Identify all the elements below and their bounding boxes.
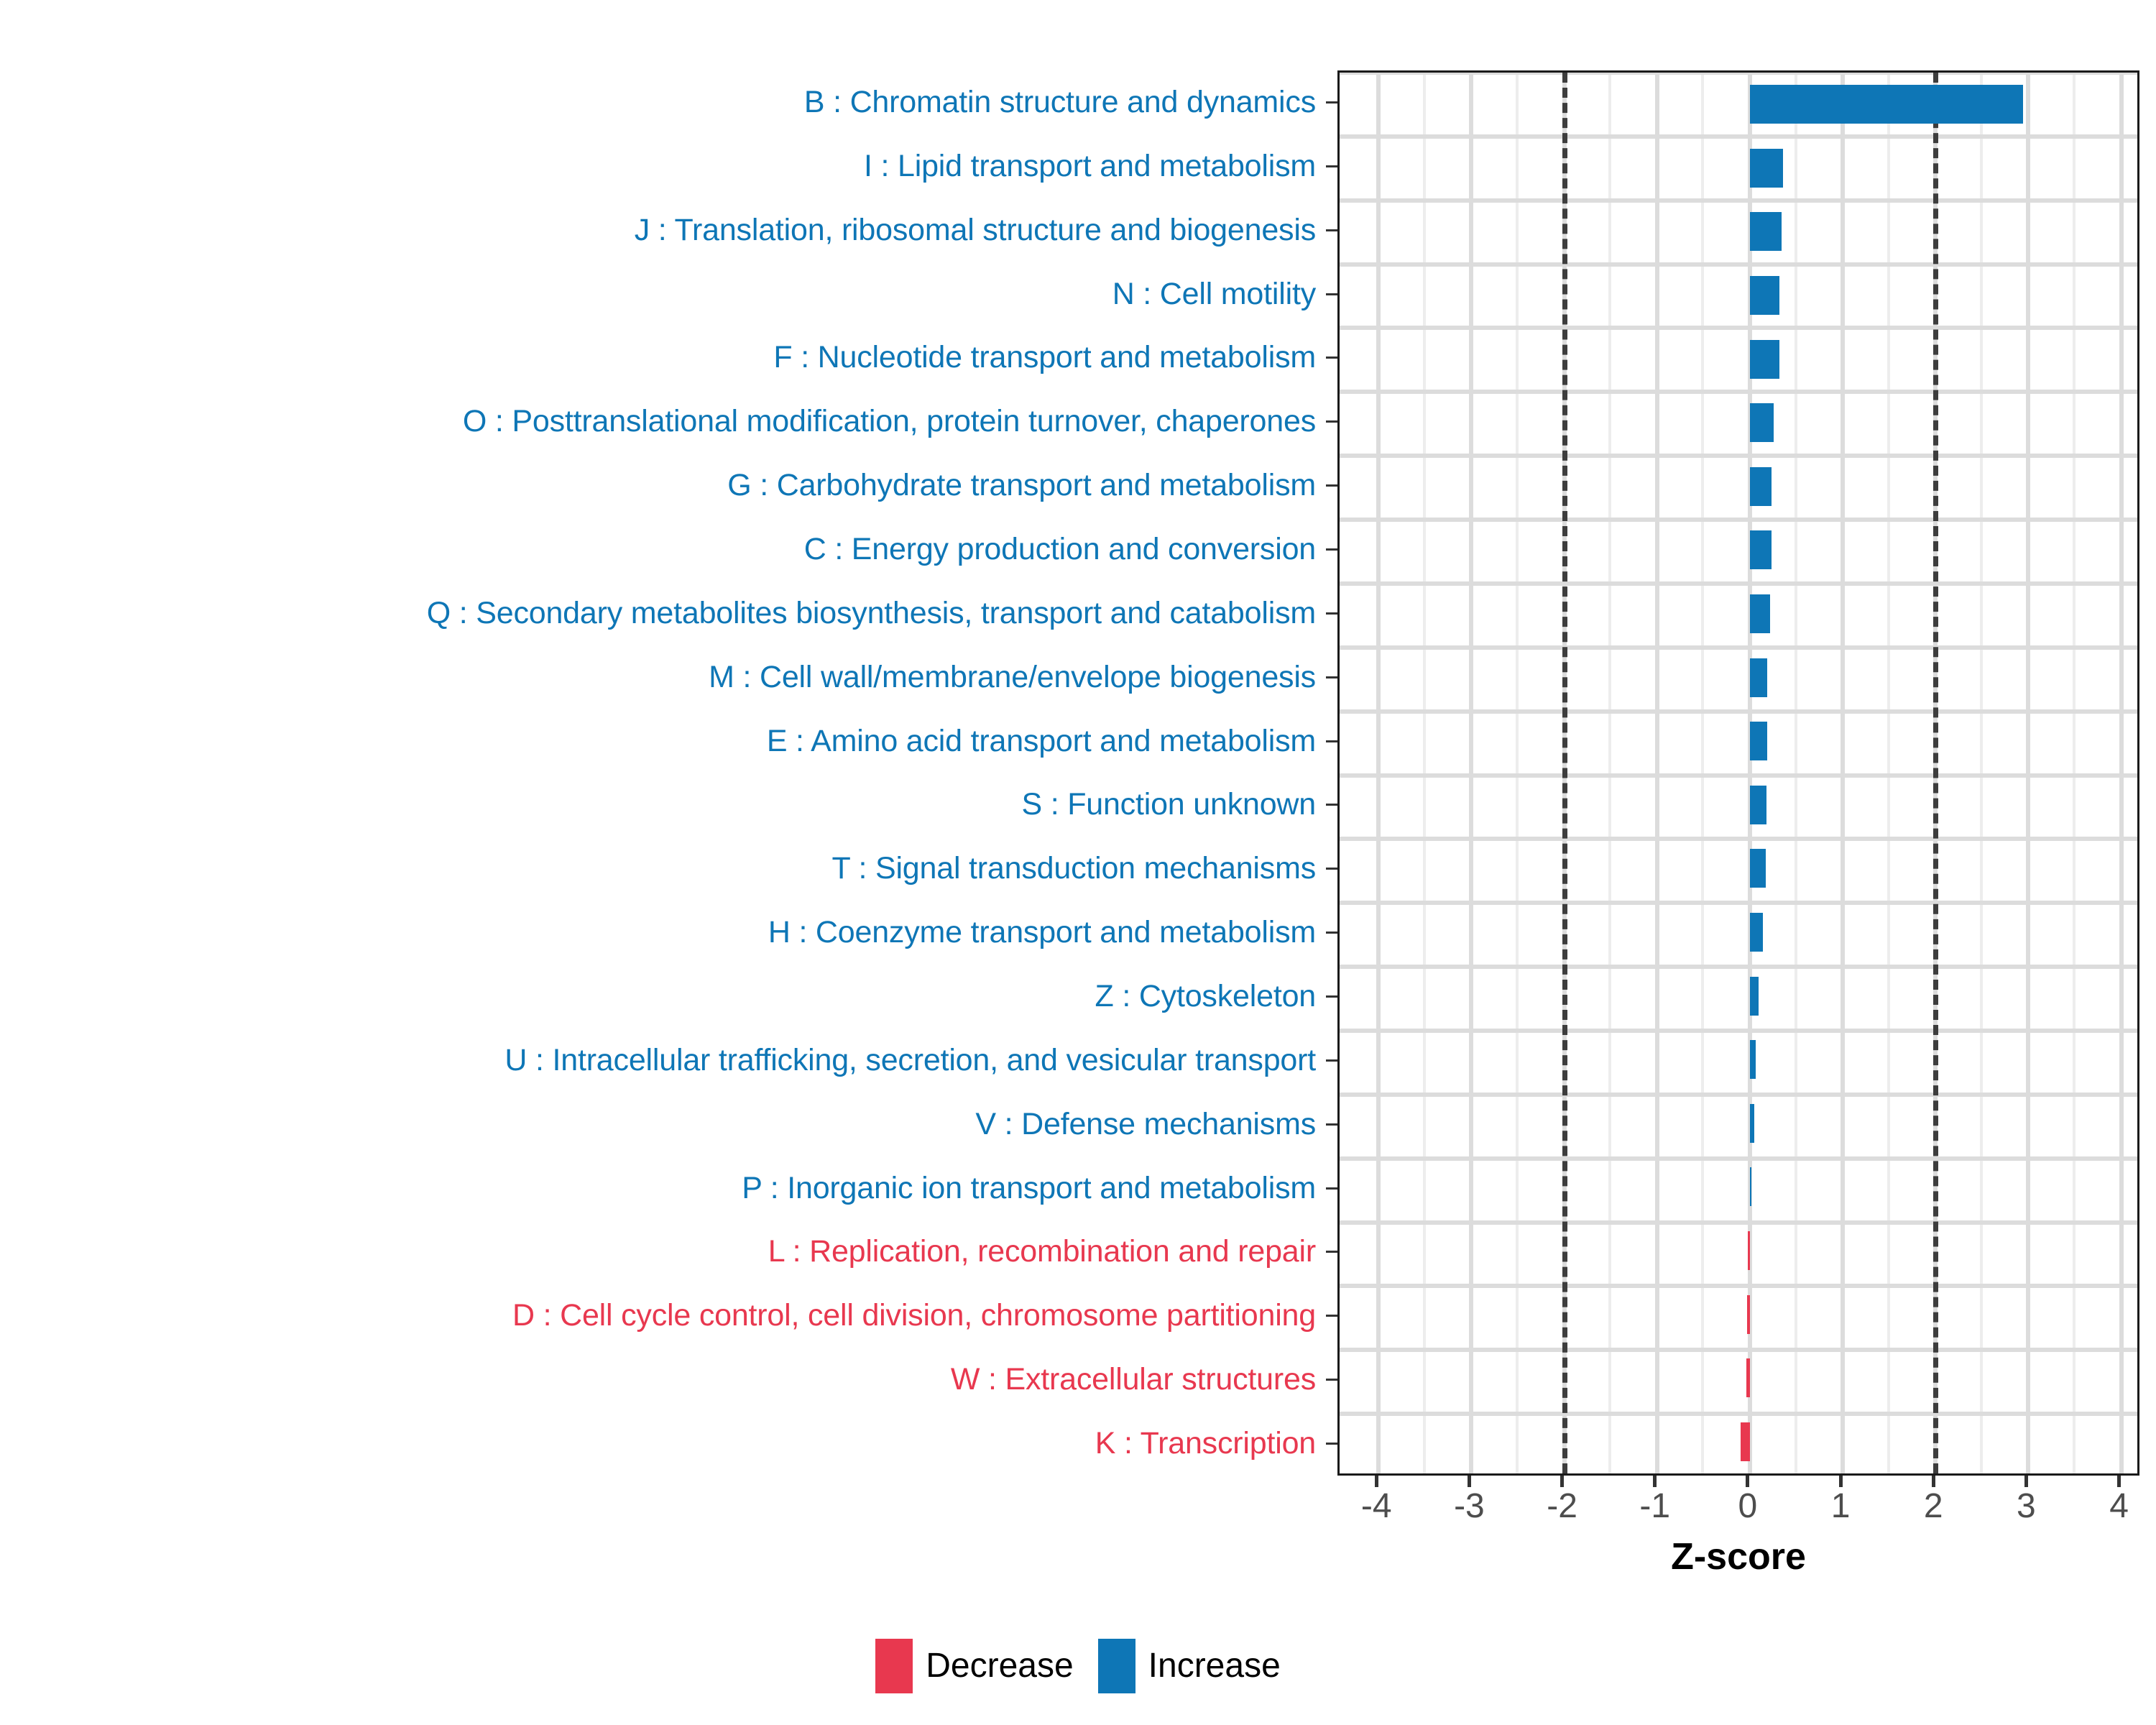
y-axis-tick-mark	[1326, 804, 1337, 806]
bar[interactable]	[1750, 1104, 1754, 1143]
y-axis-label-row: Q : Secondary metabolites biosynthesis, …	[0, 581, 1326, 645]
y-axis-label-row: V : Defense mechanisms	[0, 1092, 1326, 1156]
bar-row	[1340, 1219, 2137, 1283]
y-axis-tick-row	[1326, 773, 1337, 837]
y-axis-label-row: G : Carbohydrate transport and metabolis…	[0, 454, 1326, 517]
y-axis-tick-mark	[1326, 1443, 1337, 1445]
y-axis-tick-row	[1326, 709, 1337, 773]
bar[interactable]	[1750, 1040, 1756, 1079]
y-axis-label-row: U : Intracellular trafficking, secretion…	[0, 1029, 1326, 1092]
bar[interactable]	[1750, 594, 1770, 633]
y-axis-label-row: K : Transcription	[0, 1412, 1326, 1476]
y-axis-label-row: T : Signal transduction mechanisms	[0, 837, 1326, 901]
y-axis-category-label: T : Signal transduction mechanisms	[831, 853, 1316, 884]
x-axis-tick-mark	[2117, 1476, 2121, 1487]
legend-entry[interactable]: Increase	[1098, 1639, 1281, 1693]
y-axis-tick-mark	[1326, 1123, 1337, 1126]
x-axis-tick-mark	[1932, 1476, 1935, 1487]
x-axis-tick-mark	[1375, 1476, 1378, 1487]
y-axis-tick-row	[1326, 645, 1337, 709]
y-axis-tick-row	[1326, 901, 1337, 965]
y-axis-tick-mark	[1326, 1187, 1337, 1190]
bar[interactable]	[1750, 403, 1774, 442]
y-axis-category-label: Z : Cytoskeleton	[1095, 981, 1316, 1012]
y-axis-tick-mark	[1326, 1315, 1337, 1317]
x-axis-tick-label: 4	[2109, 1489, 2129, 1524]
y-axis-tick-row	[1326, 262, 1337, 326]
bar-row	[1340, 709, 2137, 773]
y-axis-tick-mark	[1326, 548, 1337, 551]
bar-series	[1340, 73, 2137, 1473]
y-axis-tick-row	[1326, 517, 1337, 581]
y-axis-category-label: E : Amino acid transport and metabolism	[767, 726, 1316, 757]
y-axis-category-labels: B : Chromatin structure and dynamicsI : …	[0, 70, 1326, 1476]
y-axis-category-label: F : Nucleotide transport and metabolism	[773, 342, 1316, 373]
x-axis-tick-label: -4	[1361, 1489, 1392, 1524]
y-axis-label-row: F : Nucleotide transport and metabolism	[0, 326, 1326, 390]
y-axis-tick-marks	[1326, 70, 1337, 1476]
bar[interactable]	[1750, 530, 1772, 569]
bar-row	[1340, 137, 2137, 201]
bar-row	[1340, 645, 2137, 709]
x-axis-tick-label: 2	[1924, 1489, 1943, 1524]
x-axis-tick-labels: -4-3-2-101234	[1337, 1489, 2139, 1531]
y-axis-category-label: C : Energy production and conversion	[804, 534, 1316, 565]
bar-row	[1340, 837, 2137, 901]
bar-row	[1340, 518, 2137, 582]
bar[interactable]	[1750, 149, 1784, 188]
y-axis-tick-row	[1326, 326, 1337, 390]
y-axis-category-label: W : Extracellular structures	[951, 1364, 1316, 1395]
bar-row	[1340, 1155, 2137, 1219]
bar[interactable]	[1750, 276, 1779, 315]
y-axis-category-label: P : Inorganic ion transport and metaboli…	[742, 1173, 1316, 1204]
y-axis-label-row: H : Coenzyme transport and metabolism	[0, 901, 1326, 965]
bar-row	[1340, 1409, 2137, 1473]
y-axis-tick-mark	[1326, 1059, 1337, 1062]
y-axis-tick-row	[1326, 965, 1337, 1029]
bar[interactable]	[1741, 1422, 1750, 1461]
y-axis-tick-row	[1326, 837, 1337, 901]
y-axis-category-label: H : Coenzyme transport and metabolism	[768, 917, 1316, 948]
y-axis-tick-row	[1326, 1284, 1337, 1348]
y-axis-category-label: L : Replication, recombination and repai…	[768, 1236, 1316, 1267]
y-axis-tick-mark	[1326, 101, 1337, 103]
bar-row	[1340, 200, 2137, 264]
y-axis-category-label: U : Intracellular trafficking, secretion…	[505, 1045, 1316, 1076]
y-axis-category-label: I : Lipid transport and metabolism	[864, 151, 1316, 182]
y-axis-category-label: O : Posttranslational modification, prot…	[463, 406, 1316, 437]
y-axis-tick-row	[1326, 581, 1337, 645]
y-axis-tick-mark	[1326, 740, 1337, 742]
legend-swatch	[1098, 1639, 1135, 1693]
y-axis-tick-row	[1326, 1348, 1337, 1412]
y-axis-tick-mark	[1326, 484, 1337, 487]
x-axis-tick-mark	[1560, 1476, 1564, 1487]
y-axis-tick-row	[1326, 1220, 1337, 1284]
bar[interactable]	[1750, 849, 1766, 888]
bar[interactable]	[1750, 786, 1766, 824]
y-axis-category-label: Q : Secondary metabolites biosynthesis, …	[427, 598, 1316, 629]
x-axis-tick-mark	[2024, 1476, 2028, 1487]
y-axis-tick-mark	[1326, 1379, 1337, 1381]
bar-row	[1340, 964, 2137, 1028]
chart-legend: DecreaseIncrease	[0, 1639, 2156, 1693]
y-axis-tick-mark	[1326, 293, 1337, 295]
y-axis-label-row: P : Inorganic ion transport and metaboli…	[0, 1156, 1326, 1220]
x-axis-tick-label: -1	[1639, 1489, 1670, 1524]
bar-row	[1340, 264, 2137, 328]
y-axis-tick-row	[1326, 1029, 1337, 1092]
x-axis-tick-mark	[1468, 1476, 1471, 1487]
y-axis-label-row: M : Cell wall/membrane/envelope biogenes…	[0, 645, 1326, 709]
bar[interactable]	[1750, 722, 1767, 760]
y-axis-tick-mark	[1326, 612, 1337, 615]
bar[interactable]	[1750, 212, 1782, 251]
x-axis-tick-mark	[1746, 1476, 1749, 1487]
bar[interactable]	[1750, 913, 1763, 952]
x-axis-tick-label: 3	[2017, 1489, 2036, 1524]
bar-row	[1340, 773, 2137, 837]
y-axis-label-row: C : Energy production and conversion	[0, 517, 1326, 581]
y-axis-tick-row	[1326, 70, 1337, 134]
y-axis-tick-row	[1326, 454, 1337, 517]
y-axis-label-row: J : Translation, ribosomal structure and…	[0, 198, 1326, 262]
y-axis-tick-mark	[1326, 356, 1337, 359]
y-axis-tick-mark	[1326, 676, 1337, 678]
bar[interactable]	[1747, 1295, 1750, 1334]
y-axis-tick-row	[1326, 1156, 1337, 1220]
y-axis-label-row: W : Extracellular structures	[0, 1348, 1326, 1412]
bar-row	[1340, 1092, 2137, 1156]
y-axis-label-row: B : Chromatin structure and dynamics	[0, 70, 1326, 134]
y-axis-label-row: I : Lipid transport and metabolism	[0, 134, 1326, 198]
x-axis-tick-label: -3	[1454, 1489, 1485, 1524]
y-axis-label-row: S : Function unknown	[0, 773, 1326, 837]
y-axis-tick-row	[1326, 1092, 1337, 1156]
bar-row	[1340, 1028, 2137, 1092]
bar-row	[1340, 901, 2137, 965]
bar[interactable]	[1750, 977, 1759, 1016]
y-axis-tick-row	[1326, 1412, 1337, 1476]
x-axis-tick-label: 1	[1831, 1489, 1851, 1524]
y-axis-tick-mark	[1326, 165, 1337, 167]
y-axis-tick-mark	[1326, 868, 1337, 870]
y-axis-tick-row	[1326, 134, 1337, 198]
y-axis-category-label: S : Function unknown	[1021, 789, 1316, 820]
x-axis-tick-mark	[1839, 1476, 1843, 1487]
bar[interactable]	[1746, 1358, 1750, 1397]
x-axis-title: Z-score	[1337, 1538, 2139, 1575]
bar-row	[1340, 327, 2137, 391]
bar-row	[1340, 1282, 2137, 1346]
chart-figure: B : Chromatin structure and dynamicsI : …	[0, 0, 2156, 1725]
bar-row	[1340, 1346, 2137, 1410]
y-axis-category-label: G : Carbohydrate transport and metabolis…	[727, 470, 1316, 501]
legend-swatch	[875, 1639, 913, 1693]
bar-row	[1340, 391, 2137, 455]
x-axis-tick-marks	[1337, 1476, 2139, 1487]
y-axis-category-label: J : Translation, ribosomal structure and…	[635, 215, 1316, 246]
x-axis-tick-label: -2	[1547, 1489, 1577, 1524]
x-axis-tick-mark	[1653, 1476, 1657, 1487]
y-axis-category-label: N : Cell motility	[1112, 279, 1316, 310]
legend-entry[interactable]: Decrease	[875, 1639, 1073, 1693]
bar-row	[1340, 73, 2137, 137]
y-axis-category-label: M : Cell wall/membrane/envelope biogenes…	[709, 662, 1316, 693]
y-axis-category-label: K : Transcription	[1095, 1428, 1316, 1459]
y-axis-tick-row	[1326, 390, 1337, 454]
y-axis-label-row: D : Cell cycle control, cell division, c…	[0, 1284, 1326, 1348]
y-axis-category-label: D : Cell cycle control, cell division, c…	[512, 1300, 1316, 1331]
y-axis-label-row: Z : Cytoskeleton	[0, 965, 1326, 1029]
y-axis-tick-mark	[1326, 931, 1337, 934]
bar-row	[1340, 582, 2137, 646]
bar[interactable]	[1750, 85, 2023, 124]
bar[interactable]	[1748, 1231, 1750, 1270]
legend-label: Decrease	[926, 1649, 1073, 1683]
y-axis-tick-mark	[1326, 995, 1337, 998]
plot-panel	[1337, 70, 2139, 1476]
y-axis-label-row: O : Posttranslational modification, prot…	[0, 390, 1326, 454]
y-axis-tick-mark	[1326, 229, 1337, 231]
y-axis-tick-mark	[1326, 1251, 1337, 1253]
y-axis-tick-row	[1326, 198, 1337, 262]
y-axis-tick-mark	[1326, 420, 1337, 423]
bar[interactable]	[1750, 658, 1768, 697]
bar-row	[1340, 455, 2137, 519]
legend-label: Increase	[1148, 1649, 1281, 1683]
y-axis-label-row: N : Cell motility	[0, 262, 1326, 326]
y-axis-category-label: V : Defense mechanisms	[975, 1109, 1316, 1140]
y-axis-label-row: L : Replication, recombination and repai…	[0, 1220, 1326, 1284]
y-axis-category-label: B : Chromatin structure and dynamics	[804, 87, 1316, 118]
y-axis-label-row: E : Amino acid transport and metabolism	[0, 709, 1326, 773]
bar[interactable]	[1750, 1167, 1751, 1206]
x-axis-tick-label: 0	[1738, 1489, 1758, 1524]
bar[interactable]	[1750, 340, 1779, 379]
bar[interactable]	[1750, 467, 1772, 506]
